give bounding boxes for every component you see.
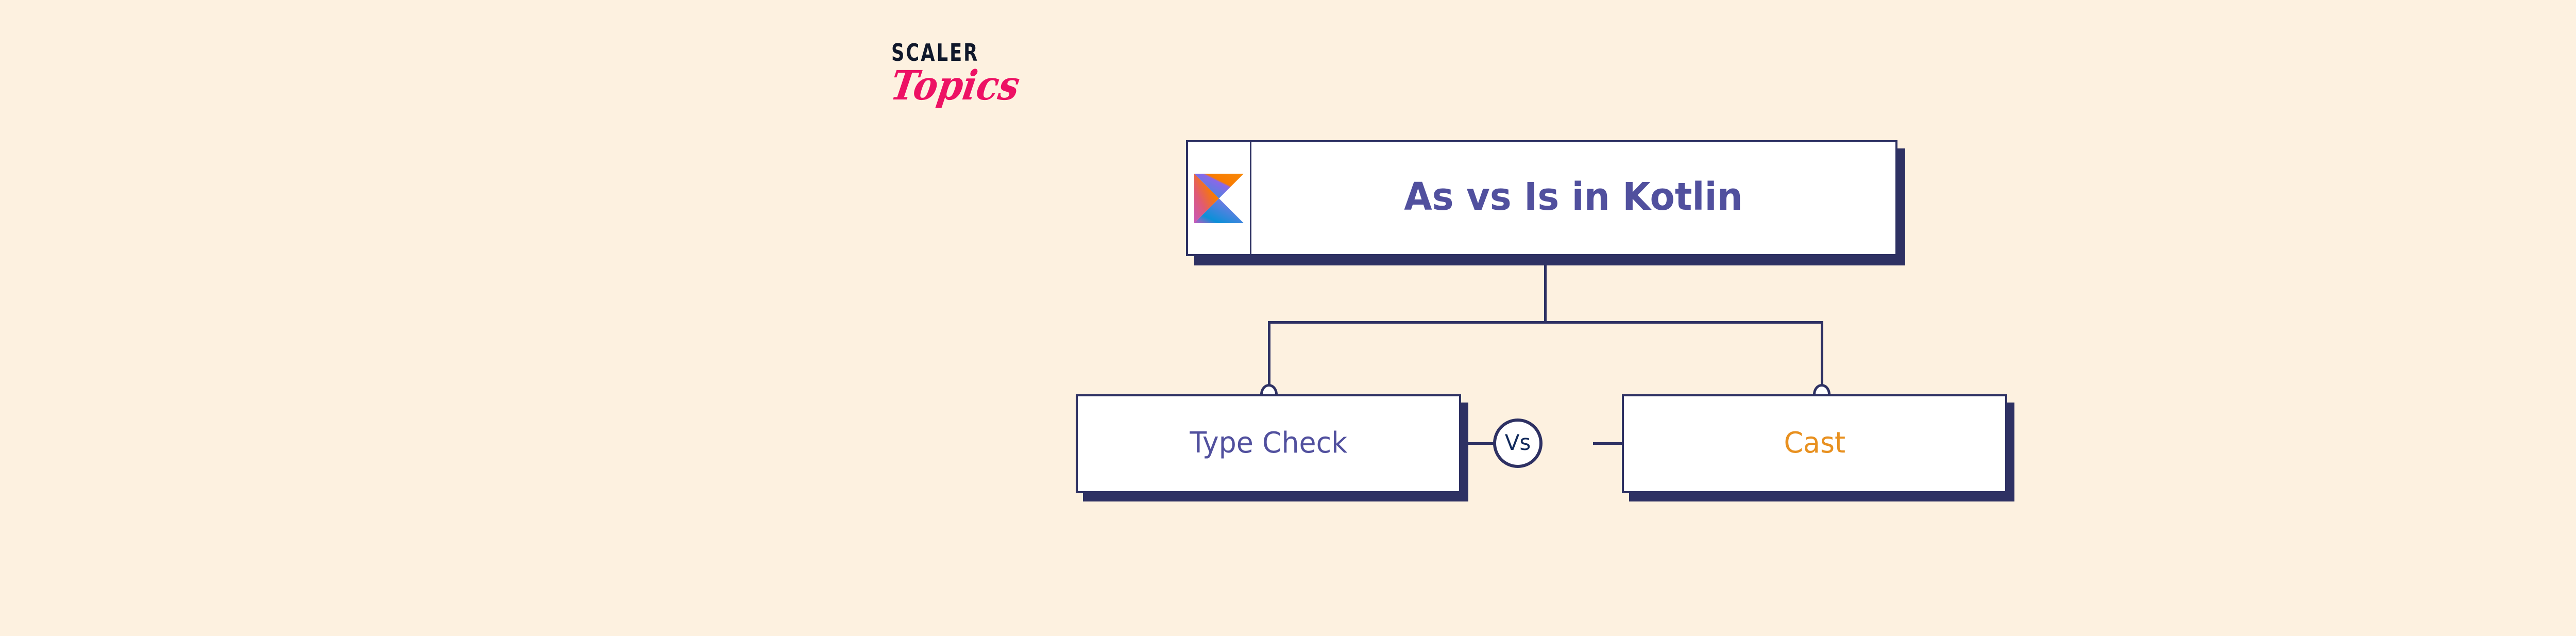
cast-label: Cast: [1784, 426, 1845, 462]
title-card: As vs Is in Kotlin: [1186, 140, 1897, 256]
vs-label: Vs: [1505, 432, 1531, 455]
page-title: As vs Is in Kotlin: [1404, 175, 1742, 219]
connector-trunk-line: [1544, 258, 1547, 324]
type-check-label: Type Check: [1190, 426, 1347, 462]
title-text-container: As vs Is in Kotlin: [1251, 142, 1895, 254]
type-check-box: Type Check: [1076, 394, 1461, 493]
vs-badge: Vs: [1493, 419, 1543, 468]
brand-name-topics: Topics: [888, 65, 1061, 106]
connector-branch-line: [1268, 321, 1823, 324]
kotlin-logo: [1188, 142, 1251, 254]
diagram-canvas: SCALER Topics: [0, 0, 2576, 636]
scaler-topics-logo: SCALER Topics: [891, 41, 1061, 129]
vs-connector-line-right: [1593, 442, 1623, 445]
cast-box: Cast: [1622, 394, 2007, 493]
